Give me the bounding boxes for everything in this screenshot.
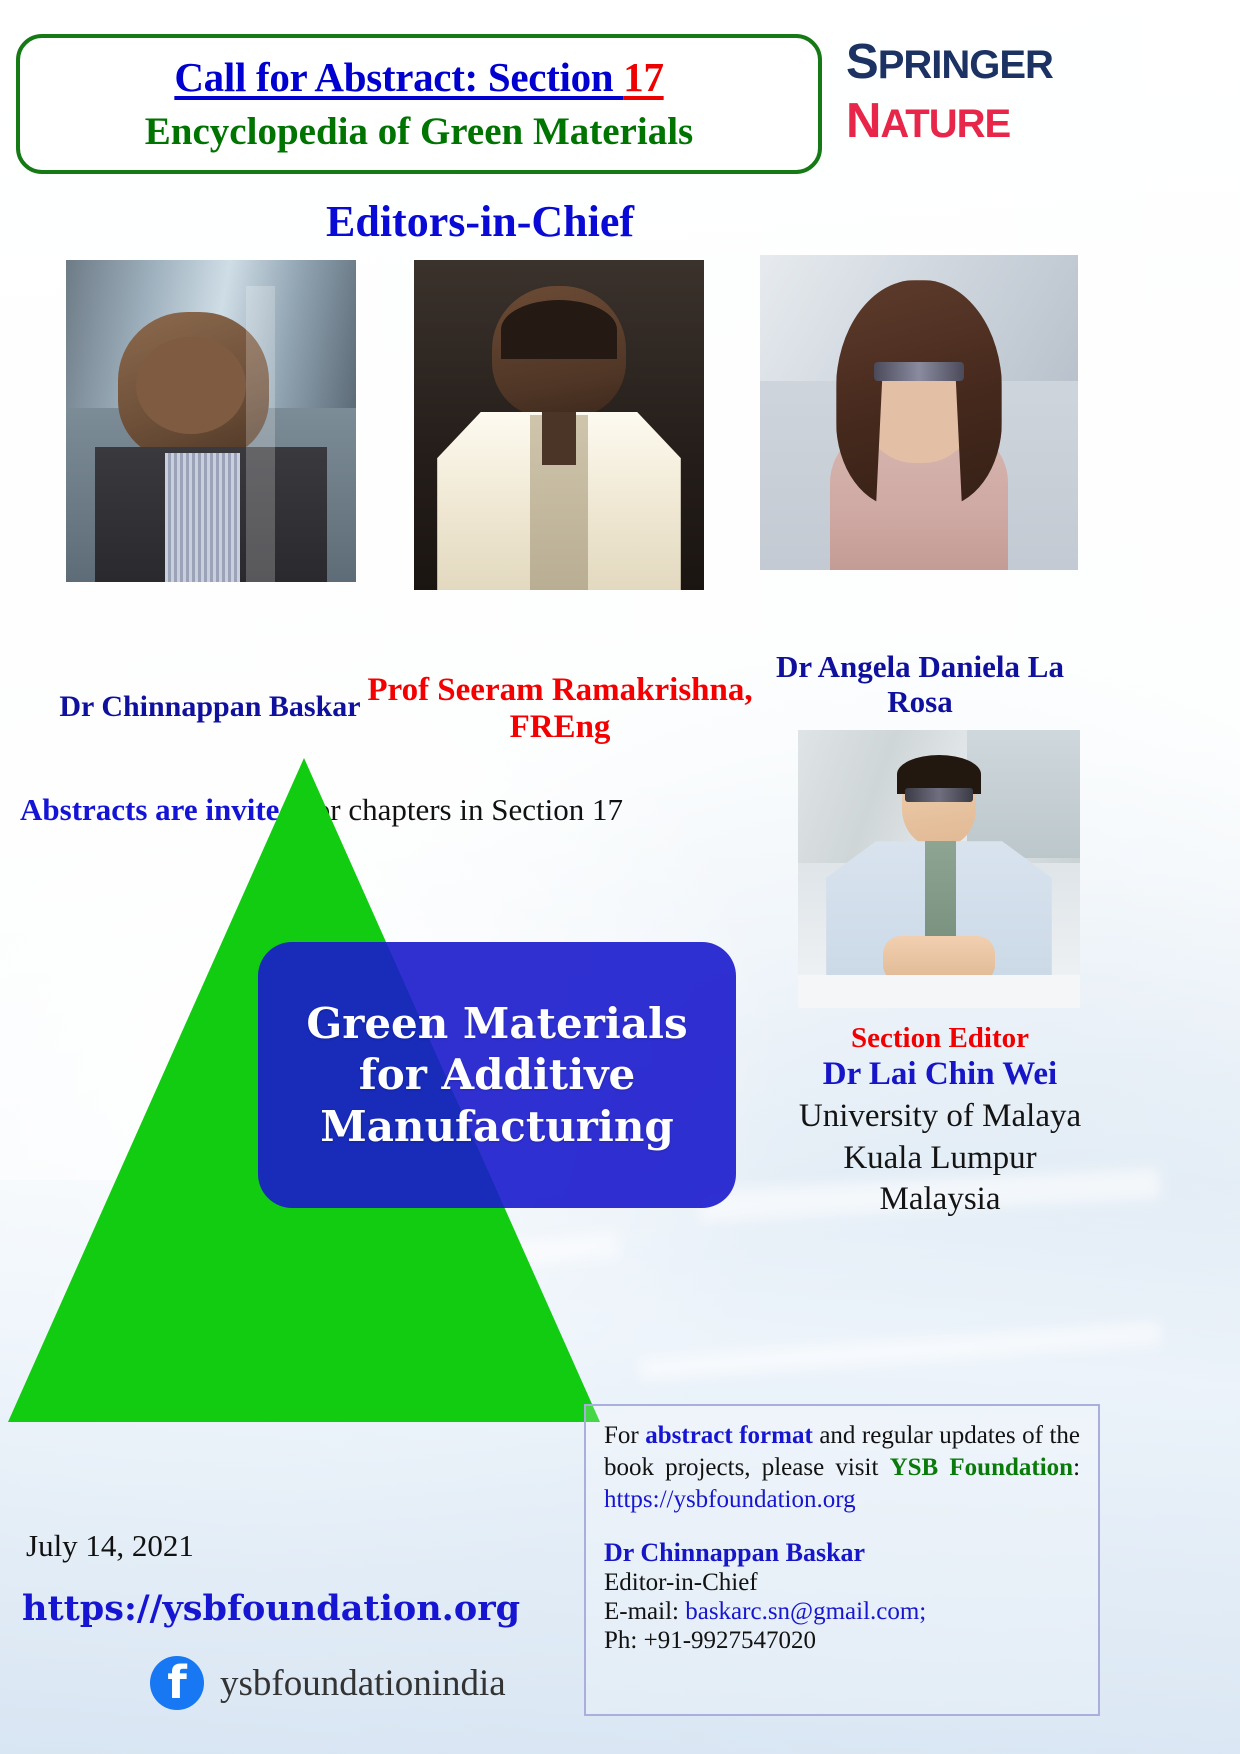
contact-instructions: For abstract format and regular updates … (604, 1420, 1080, 1516)
editor-photo-1 (66, 260, 356, 582)
contact-email-address[interactable]: baskarc.sn@gmail.com; (685, 1598, 926, 1625)
page-subtitle: Encyclopedia of Green Materials (145, 109, 693, 154)
topic-line-2: for Additive (306, 1049, 687, 1100)
poster-root: Call for Abstract: Section 17 Encycloped… (0, 0, 1240, 1754)
contact-para-part-3: : (1073, 1454, 1080, 1481)
contact-abstract-format-emphasis: abstract format (645, 1422, 813, 1449)
editor-photo-3 (760, 255, 1078, 570)
contact-person-name: Dr Chinnappan Baskar (604, 1538, 1080, 1568)
invite-line-bold: Abstracts are invited (20, 792, 297, 827)
editor-name-3: Dr Angela Daniela La Rosa (740, 650, 1100, 719)
topic-callout-text: Green Materials for Additive Manufacturi… (306, 998, 687, 1152)
section-editor-name: Dr Lai Chin Wei (760, 1056, 1120, 1093)
contact-phone: Ph: +91-9927547020 (604, 1627, 1080, 1655)
contact-para-part-1: For (604, 1422, 645, 1449)
springer-wordmark: SPRINGER (846, 38, 1098, 87)
invite-line-rest: for chapters in Section 17 (297, 792, 623, 827)
contact-email-row: E-mail: baskarc.sn@gmail.com; (604, 1598, 1080, 1626)
nature-wordmark: NATURE (846, 97, 1098, 146)
editor-name-1: Dr Chinnappan Baskar (10, 690, 410, 724)
page-title-section-number: 17 (623, 54, 663, 100)
topic-line-1: Green Materials (306, 998, 687, 1049)
facebook-handle[interactable]: ysbfoundationindia (220, 1662, 506, 1705)
facebook-icon[interactable]: f (150, 1656, 204, 1710)
contact-panel: For abstract format and regular updates … (584, 1404, 1100, 1716)
contact-email-label: E-mail: (604, 1598, 685, 1625)
topic-line-3: Manufacturing (306, 1101, 687, 1152)
editor-photo-2 (414, 260, 704, 590)
section-editor-university: University of Malaya (740, 1096, 1140, 1138)
page-title: Call for Abstract: Section 17 (174, 54, 663, 101)
title-banner: Call for Abstract: Section 17 Encycloped… (16, 34, 822, 174)
topic-callout-box: Green Materials for Additive Manufacturi… (258, 942, 736, 1208)
editors-in-chief-heading: Editors-in-Chief (0, 196, 960, 247)
section-editor-country: Malaysia (740, 1179, 1140, 1221)
facebook-f-glyph: f (150, 1658, 204, 1708)
section-editor-photo (798, 730, 1080, 1008)
facebook-row[interactable]: f ysbfoundationindia (150, 1656, 506, 1710)
section-editor-affiliation: University of Malaya Kuala Lumpur Malays… (740, 1096, 1140, 1221)
poster-date: July 14, 2021 (26, 1528, 194, 1564)
contact-website-link[interactable]: https://ysbfoundation.org (604, 1486, 856, 1513)
contact-person-role: Editor-in-Chief (604, 1569, 1080, 1597)
springer-nature-logo: SPRINGER NATURE (846, 38, 1098, 170)
section-editor-city: Kuala Lumpur (740, 1138, 1140, 1180)
editor-name-2: Prof Seeram Ramakrishna, FREng (360, 672, 760, 746)
footer-website-link[interactable]: https://ysbfoundation.org (22, 1588, 520, 1629)
page-title-prefix: Call for Abstract: Section (174, 54, 623, 100)
contact-ysb-foundation-emphasis: YSB Foundation (890, 1454, 1073, 1481)
section-editor-role: Section Editor (760, 1022, 1120, 1055)
